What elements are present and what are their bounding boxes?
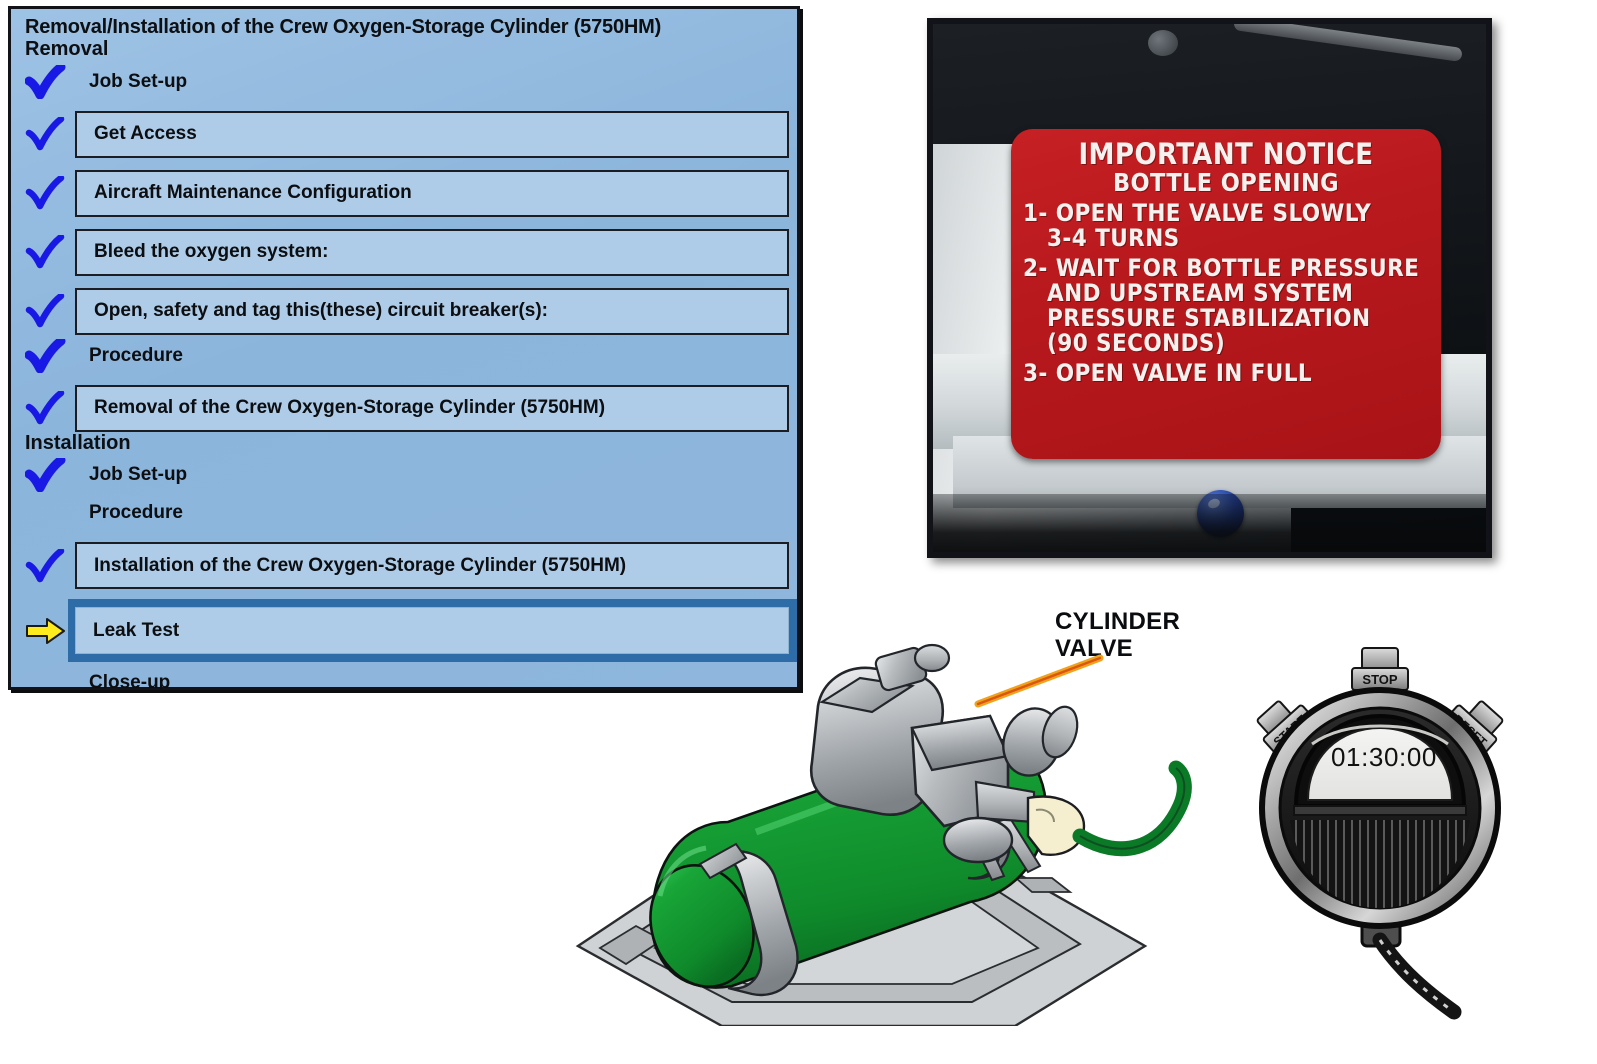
task-item[interactable]: Removal of the Crew Oxygen-Storage Cylin… [11, 385, 797, 432]
photo-bolt [1148, 30, 1178, 56]
task-item-box[interactable]: Removal of the Crew Oxygen-Storage Cylin… [75, 385, 789, 432]
task-item[interactable]: Get Access [11, 111, 797, 158]
photo-shadow [933, 494, 1492, 558]
task-item[interactable]: Job Set-up [11, 458, 797, 492]
arrow-right-icon [25, 616, 67, 646]
valve-outlet-hose [1028, 768, 1184, 855]
placard-line-3: 2- WAIT FOR BOTTLE PRESSURE [1021, 256, 1431, 281]
placard-line-1: 1- OPEN THE VALVE SLOWLY [1021, 201, 1431, 226]
task-item-box[interactable]: Open, safety and tag this(these) circuit… [75, 288, 789, 335]
current-step-arrow-icon [25, 616, 67, 646]
task-item-label: Leak Test [76, 620, 179, 642]
important-notice-photo: IMPORTANT NOTICE BOTTLE OPENING 1- OPEN … [927, 18, 1492, 558]
placard-line-2: 3-4 TURNS [1021, 226, 1431, 251]
task-item-box[interactable]: Get Access [75, 111, 789, 158]
task-item-label: Job Set-up [89, 464, 187, 486]
check-icon [25, 176, 67, 210]
placard-title: IMPORTANT NOTICE [1021, 139, 1431, 169]
placard-line-5: PRESSURE STABILIZATION [1021, 306, 1431, 331]
task-item[interactable]: Bleed the oxygen system: [11, 229, 797, 276]
check-icon [25, 235, 67, 269]
callout-pointer-line [978, 658, 1100, 704]
task-item-box[interactable]: Installation of the Crew Oxygen-Storage … [75, 542, 789, 589]
task-item-box[interactable]: Bleed the oxygen system: [75, 229, 789, 276]
task-item[interactable]: Procedure [11, 339, 797, 373]
task-item[interactable]: Procedure [11, 496, 797, 530]
check-icon [25, 65, 67, 99]
task-item-label: Procedure [89, 502, 183, 524]
stopwatch-button-stop: STOP [1352, 648, 1408, 690]
task-item-label: Removal of the Crew Oxygen-Storage Cylin… [77, 397, 605, 419]
task-item-label: Get Access [77, 123, 197, 145]
notice-placard: IMPORTANT NOTICE BOTTLE OPENING 1- OPEN … [1011, 129, 1441, 459]
check-icon [25, 176, 67, 210]
check-icon [25, 391, 67, 425]
check-icon [25, 549, 67, 583]
check-icon [25, 235, 67, 269]
task-item-label: Job Set-up [89, 71, 187, 93]
task-item[interactable]: Installation of the Crew Oxygen-Storage … [11, 542, 797, 589]
stopwatch-display: 01:30:00 [1322, 742, 1446, 773]
check-icon [25, 549, 67, 583]
task-item[interactable]: Open, safety and tag this(these) circuit… [11, 288, 797, 335]
check-icon [25, 117, 67, 151]
task-item-label: Aircraft Maintenance Configuration [77, 182, 412, 204]
task-item-box[interactable]: Aircraft Maintenance Configuration [75, 170, 789, 217]
check-icon [25, 458, 67, 492]
task-item-label: Close-up [89, 672, 170, 694]
task-item[interactable]: Job Set-up [11, 65, 797, 99]
check-icon [25, 117, 67, 151]
section-label-removal: Removal [11, 38, 797, 60]
stopwatch-stop-label: STOP [1362, 672, 1397, 687]
page-title: Removal/Installation of the Crew Oxygen-… [11, 9, 797, 38]
task-navigator-panel: Removal/Installation of the Crew Oxygen-… [8, 6, 800, 690]
check-icon [25, 391, 67, 425]
check-icon [25, 458, 67, 492]
placard-line-7: 3- OPEN VALVE IN FULL [1021, 361, 1431, 386]
placard-line-6: (90 SECONDS) [1021, 331, 1431, 356]
section-label-installation: Installation [11, 432, 797, 454]
check-icon [25, 339, 67, 373]
check-icon [25, 294, 67, 328]
stopwatch-illustration: STOP START RESET [1240, 640, 1520, 1040]
task-item-label: Installation of the Crew Oxygen-Storage … [77, 555, 626, 577]
check-icon [25, 294, 67, 328]
task-item-label: Procedure [89, 345, 183, 367]
placard-line-4: AND UPSTREAM SYSTEM [1021, 281, 1431, 306]
task-item-label: Open, safety and tag this(these) circuit… [77, 300, 548, 322]
placard-subtitle: BOTTLE OPENING [1021, 170, 1431, 196]
check-icon [25, 339, 67, 373]
task-item-label: Bleed the oxygen system: [77, 241, 328, 263]
task-item[interactable]: Aircraft Maintenance Configuration [11, 170, 797, 217]
oxygen-cylinder-illustration [560, 596, 1200, 1026]
check-icon [25, 65, 67, 99]
